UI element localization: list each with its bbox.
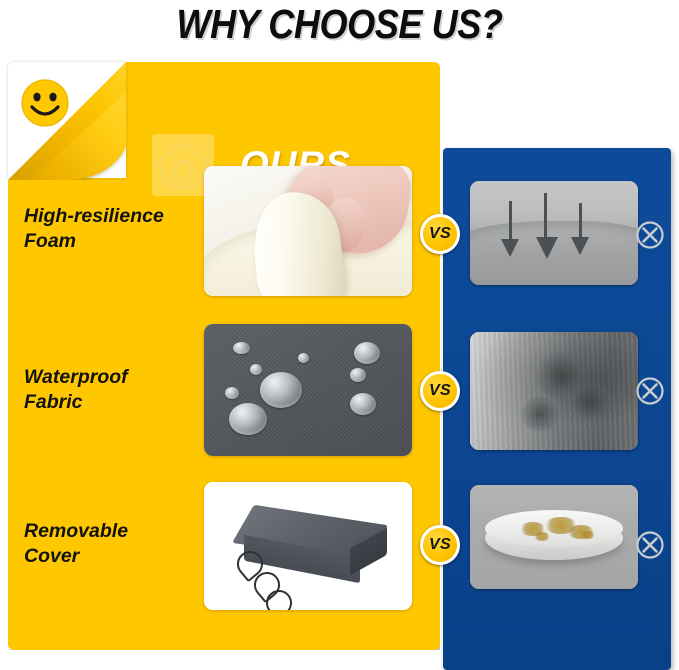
ours-image-high-resilience-foam bbox=[204, 166, 412, 296]
circle-x-icon-row-2 bbox=[636, 377, 664, 405]
feature-label-line-2: Fabric bbox=[24, 391, 83, 413]
ours-image-removable-cover bbox=[204, 482, 412, 610]
feature-label-removable-cover: Removable Cover bbox=[24, 519, 204, 569]
vs-badge-row-2: VS bbox=[420, 371, 460, 411]
vs-badge-row-3: VS bbox=[420, 525, 460, 565]
feature-label-line-2: Foam bbox=[24, 230, 76, 252]
feature-label-line-1: High-resilience bbox=[24, 205, 164, 227]
feature-label-high-resilience-foam: High-resilience Foam bbox=[24, 204, 204, 254]
others-image-wet-fabric bbox=[470, 332, 638, 450]
feature-label-line-2: Cover bbox=[24, 545, 79, 567]
feature-label-line-1: Waterproof bbox=[24, 366, 128, 388]
smiley-face-icon bbox=[20, 78, 70, 128]
others-image-stained-cushion bbox=[470, 485, 638, 589]
others-image-foam-collapse bbox=[470, 181, 638, 285]
feature-label-waterproof-fabric: Waterproof Fabric bbox=[24, 365, 204, 415]
vs-badge-row-1: VS bbox=[420, 214, 460, 254]
circle-x-icon-row-1 bbox=[636, 221, 664, 249]
feature-label-line-1: Removable bbox=[24, 520, 128, 542]
circle-x-icon-row-3 bbox=[636, 531, 664, 559]
comparison-board: OURS OTHERS High-resilience Foam VS bbox=[0, 52, 679, 662]
page-title: WHY CHOOSE US? bbox=[41, 0, 639, 46]
ours-image-waterproof-fabric bbox=[204, 324, 412, 456]
